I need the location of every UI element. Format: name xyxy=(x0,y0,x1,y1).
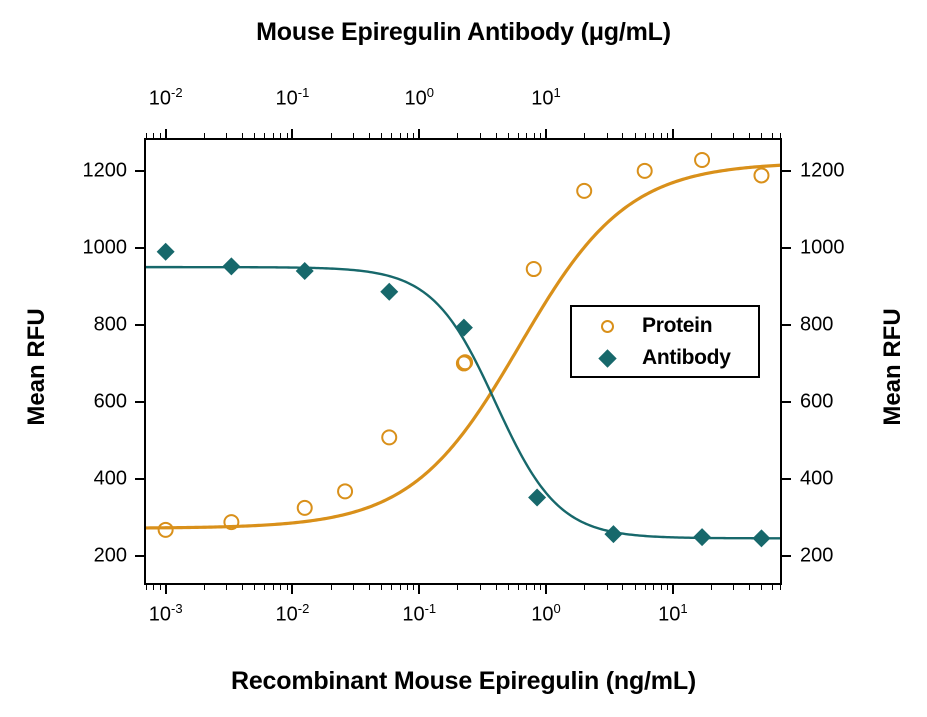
data-point-antibody xyxy=(296,262,314,280)
top-tick-label: 100 xyxy=(404,85,433,111)
bottom-minor-tick xyxy=(153,585,154,590)
legend-item-antibody[interactable]: Antibody xyxy=(572,343,758,373)
data-point-protein xyxy=(298,501,312,515)
bottom-minor-tick xyxy=(226,585,227,590)
bottom-major-tick xyxy=(545,585,547,594)
data-point-antibody xyxy=(380,283,398,301)
bottom-tick-label: 10-3 xyxy=(149,601,183,627)
data-point-antibody xyxy=(157,243,175,261)
data-point-antibody xyxy=(604,525,622,543)
y-left-tick-label: 800 xyxy=(49,313,127,336)
y-left-tick-label: 1200 xyxy=(49,159,127,182)
y-left-major-tick xyxy=(135,478,144,480)
y-left-tick-label: 600 xyxy=(49,390,127,413)
top-major-tick xyxy=(672,129,674,138)
top-major-tick xyxy=(545,129,547,138)
y-left-major-tick xyxy=(135,170,144,172)
top-major-tick xyxy=(165,129,167,138)
bottom-minor-tick xyxy=(622,585,623,590)
bottom-minor-tick xyxy=(457,585,458,590)
bottom-minor-tick xyxy=(353,585,354,590)
bottom-minor-tick xyxy=(287,585,288,590)
legend-label-protein: Protein xyxy=(642,314,712,338)
data-point-antibody xyxy=(455,319,473,337)
data-point-protein xyxy=(338,484,352,498)
bottom-minor-tick xyxy=(667,585,668,590)
data-point-protein xyxy=(638,164,652,178)
y-right-tick-label: 200 xyxy=(800,545,878,568)
data-point-antibody xyxy=(752,529,770,547)
top-tick-label: 10-1 xyxy=(276,85,310,111)
y-right-major-tick xyxy=(782,555,791,557)
bottom-major-tick xyxy=(418,585,420,594)
bottom-tick-label: 10-1 xyxy=(402,601,436,627)
bottom-major-tick xyxy=(291,585,293,594)
y-left-major-tick xyxy=(135,324,144,326)
data-point-protein xyxy=(382,430,396,444)
bottom-major-tick xyxy=(672,585,674,594)
bottom-minor-tick xyxy=(772,585,773,590)
bottom-minor-tick xyxy=(264,585,265,590)
bottom-minor-tick xyxy=(584,585,585,590)
y-left-tick-label: 200 xyxy=(49,545,127,568)
bottom-tick-label: 100 xyxy=(531,601,560,627)
y-right-tick-label: 1000 xyxy=(800,236,878,259)
bottom-minor-tick xyxy=(518,585,519,590)
bottom-minor-tick xyxy=(204,585,205,590)
top-major-tick xyxy=(291,129,293,138)
bottom-minor-tick xyxy=(653,585,654,590)
bottom-minor-tick xyxy=(661,585,662,590)
data-point-protein xyxy=(754,168,768,182)
bottom-minor-tick xyxy=(254,585,255,590)
bottom-minor-tick xyxy=(508,585,509,590)
y-right-major-tick xyxy=(782,247,791,249)
bottom-minor-tick xyxy=(496,585,497,590)
filled-diamond-icon xyxy=(572,352,642,365)
bottom-minor-tick xyxy=(146,585,147,590)
y-axis-right-title: Mean RFU xyxy=(879,297,907,437)
bottom-minor-tick xyxy=(749,585,750,590)
data-point-protein xyxy=(527,262,541,276)
bottom-minor-tick xyxy=(607,585,608,590)
y-right-major-tick xyxy=(782,170,791,172)
bottom-major-tick xyxy=(165,585,167,594)
bottom-minor-tick xyxy=(407,585,408,590)
bottom-axis-title: Recombinant Mouse Epiregulin (ng/mL) xyxy=(0,667,927,696)
bottom-minor-tick xyxy=(733,585,734,590)
y-right-tick-label: 400 xyxy=(800,467,878,490)
legend-box: Protein Antibody xyxy=(570,305,760,378)
data-point-protein xyxy=(695,153,709,167)
data-point-protein xyxy=(159,523,173,537)
bottom-minor-tick xyxy=(645,585,646,590)
data-point-antibody xyxy=(222,257,240,275)
y-left-major-tick xyxy=(135,401,144,403)
bottom-minor-tick xyxy=(242,585,243,590)
y-right-tick-label: 1200 xyxy=(800,159,878,182)
y-left-tick-label: 1000 xyxy=(49,236,127,259)
top-tick-label: 10-2 xyxy=(149,85,183,111)
y-right-tick-label: 800 xyxy=(800,313,878,336)
data-point-protein xyxy=(577,184,591,198)
y-left-major-tick xyxy=(135,247,144,249)
y-right-tick-label: 600 xyxy=(800,390,878,413)
y-left-major-tick xyxy=(135,555,144,557)
legend-item-protein[interactable]: Protein xyxy=(572,311,758,341)
bottom-minor-tick xyxy=(391,585,392,590)
bottom-minor-tick xyxy=(381,585,382,590)
figure-root: Mouse Epiregulin Antibody (μg/mL) Recomb… xyxy=(0,0,927,717)
bottom-minor-tick xyxy=(400,585,401,590)
bottom-minor-tick xyxy=(526,585,527,590)
top-tick-label: 101 xyxy=(531,85,560,111)
y-right-major-tick xyxy=(782,478,791,480)
data-point-antibody xyxy=(693,528,711,546)
bottom-minor-tick xyxy=(280,585,281,590)
bottom-tick-label: 101 xyxy=(658,601,687,627)
bottom-minor-tick xyxy=(331,585,332,590)
bottom-minor-tick xyxy=(413,585,414,590)
bottom-minor-tick xyxy=(635,585,636,590)
bottom-minor-tick xyxy=(711,585,712,590)
y-right-major-tick xyxy=(782,324,791,326)
bottom-minor-tick xyxy=(480,585,481,590)
y-right-major-tick xyxy=(782,401,791,403)
y-axis-left-title: Mean RFU xyxy=(23,297,51,437)
top-major-tick xyxy=(418,129,420,138)
bottom-minor-tick xyxy=(540,585,541,590)
bottom-tick-label: 10-2 xyxy=(276,601,310,627)
y-left-tick-label: 400 xyxy=(49,467,127,490)
bottom-minor-tick xyxy=(534,585,535,590)
bottom-minor-tick xyxy=(761,585,762,590)
legend-label-antibody: Antibody xyxy=(642,346,731,370)
bottom-minor-tick xyxy=(780,585,781,590)
bottom-minor-tick xyxy=(369,585,370,590)
bottom-minor-tick xyxy=(273,585,274,590)
open-circle-icon xyxy=(572,320,642,333)
bottom-minor-tick xyxy=(160,585,161,590)
top-axis-title: Mouse Epiregulin Antibody (μg/mL) xyxy=(0,18,927,47)
